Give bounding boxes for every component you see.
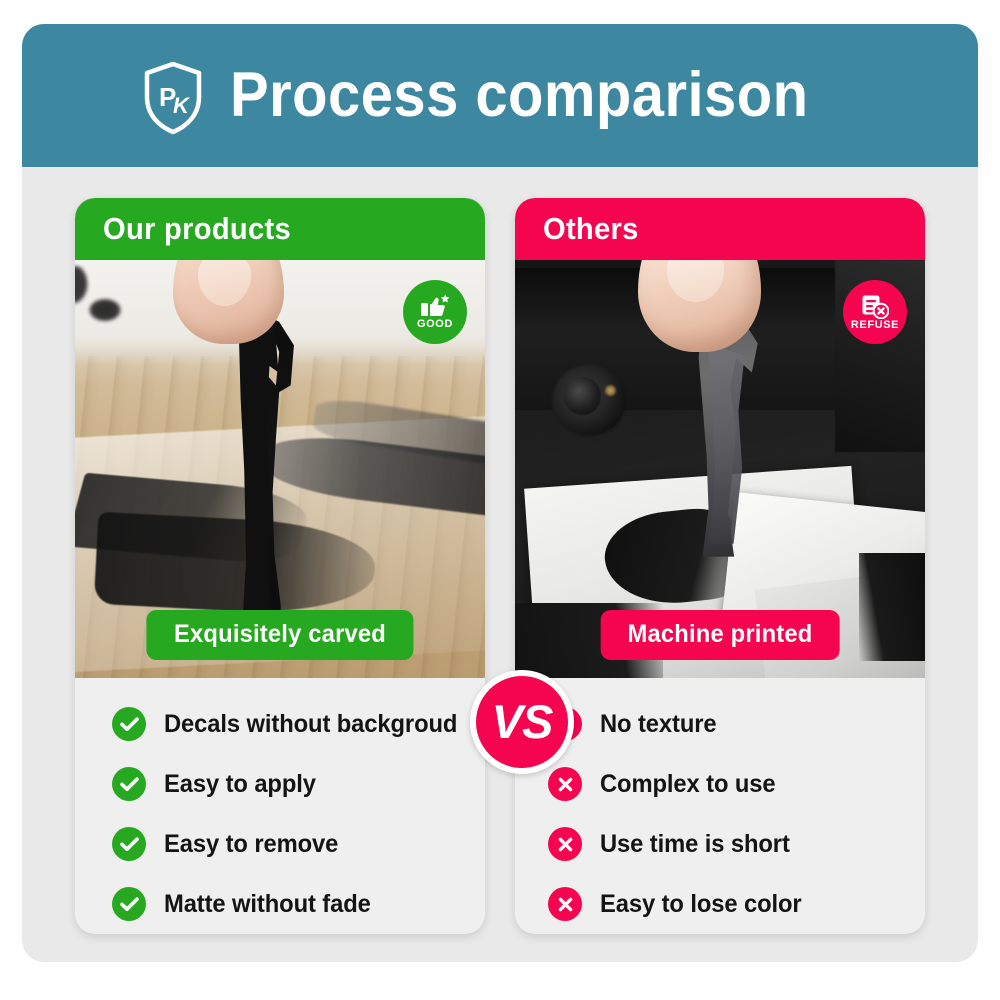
column-header-label: Others	[543, 211, 639, 247]
list-item: Decals without backgroud	[75, 704, 485, 744]
badge-refuse: REFUSE	[843, 280, 907, 344]
svg-text:K: K	[173, 93, 191, 118]
process-comparison-page: P K Process comparison Our products	[0, 0, 1000, 1000]
caption-label: Exquisitely carved	[174, 620, 386, 649]
list-item: Easy to lose color	[515, 884, 925, 924]
cross-icon	[548, 767, 582, 801]
versus-label: VS	[492, 698, 553, 745]
feature-label: Use time is short	[600, 830, 790, 859]
list-item: Use time is short	[515, 824, 925, 864]
page-header: P K Process comparison	[22, 24, 978, 167]
column-header-label: Our products	[103, 211, 291, 247]
product-photo-ours: GOOD Exquisitely carved	[75, 260, 485, 678]
caption-machine-printed: Machine printed	[601, 610, 840, 660]
photo-black-corner	[859, 553, 925, 662]
photo-lens-inner	[564, 377, 601, 415]
page-title: Process comparison	[230, 64, 808, 127]
check-icon	[112, 827, 146, 861]
caption-exquisitely-carved: Exquisitely carved	[146, 610, 413, 660]
column-header-others: Others	[515, 198, 925, 260]
list-item: Easy to apply	[75, 764, 485, 804]
column-our-products: Our products	[75, 198, 485, 934]
feature-label: Decals without backgroud	[164, 710, 457, 739]
list-item: Easy to remove	[75, 824, 485, 864]
versus-badge: VS	[470, 670, 574, 774]
feature-label: Easy to remove	[164, 830, 338, 859]
check-icon	[112, 707, 146, 741]
caption-label: Machine printed	[628, 620, 813, 649]
feature-label: Easy to lose color	[600, 890, 802, 919]
feature-list-ours: Decals without backgroud Easy to apply	[75, 678, 485, 924]
badge-refuse-label: REFUSE	[851, 320, 899, 331]
list-item: No texture	[515, 704, 925, 744]
cross-icon	[548, 827, 582, 861]
check-icon	[112, 887, 146, 921]
feature-label: Easy to apply	[164, 770, 316, 799]
check-icon	[112, 767, 146, 801]
feature-label: Matte without fade	[164, 890, 371, 919]
column-others: Others	[515, 198, 925, 934]
list-item: Complex to use	[515, 764, 925, 804]
feature-list-others: No texture Complex to use	[515, 678, 925, 924]
badge-good: GOOD	[403, 280, 467, 344]
product-photo-others: REFUSE Machine printed	[515, 260, 925, 678]
column-header-our-products: Our products	[75, 198, 485, 260]
photo-scissors	[75, 266, 185, 362]
feature-label: Complex to use	[600, 770, 776, 799]
cross-icon	[548, 887, 582, 921]
document-reject-icon	[861, 294, 889, 319]
badge-good-label: GOOD	[417, 319, 453, 330]
shield-pk-logo-icon: P K	[142, 61, 204, 135]
comparison-panel: Our products	[22, 167, 978, 962]
list-item: Matte without fade	[75, 884, 485, 924]
thumbs-up-star-icon	[420, 294, 450, 318]
feature-label: No texture	[600, 710, 717, 739]
